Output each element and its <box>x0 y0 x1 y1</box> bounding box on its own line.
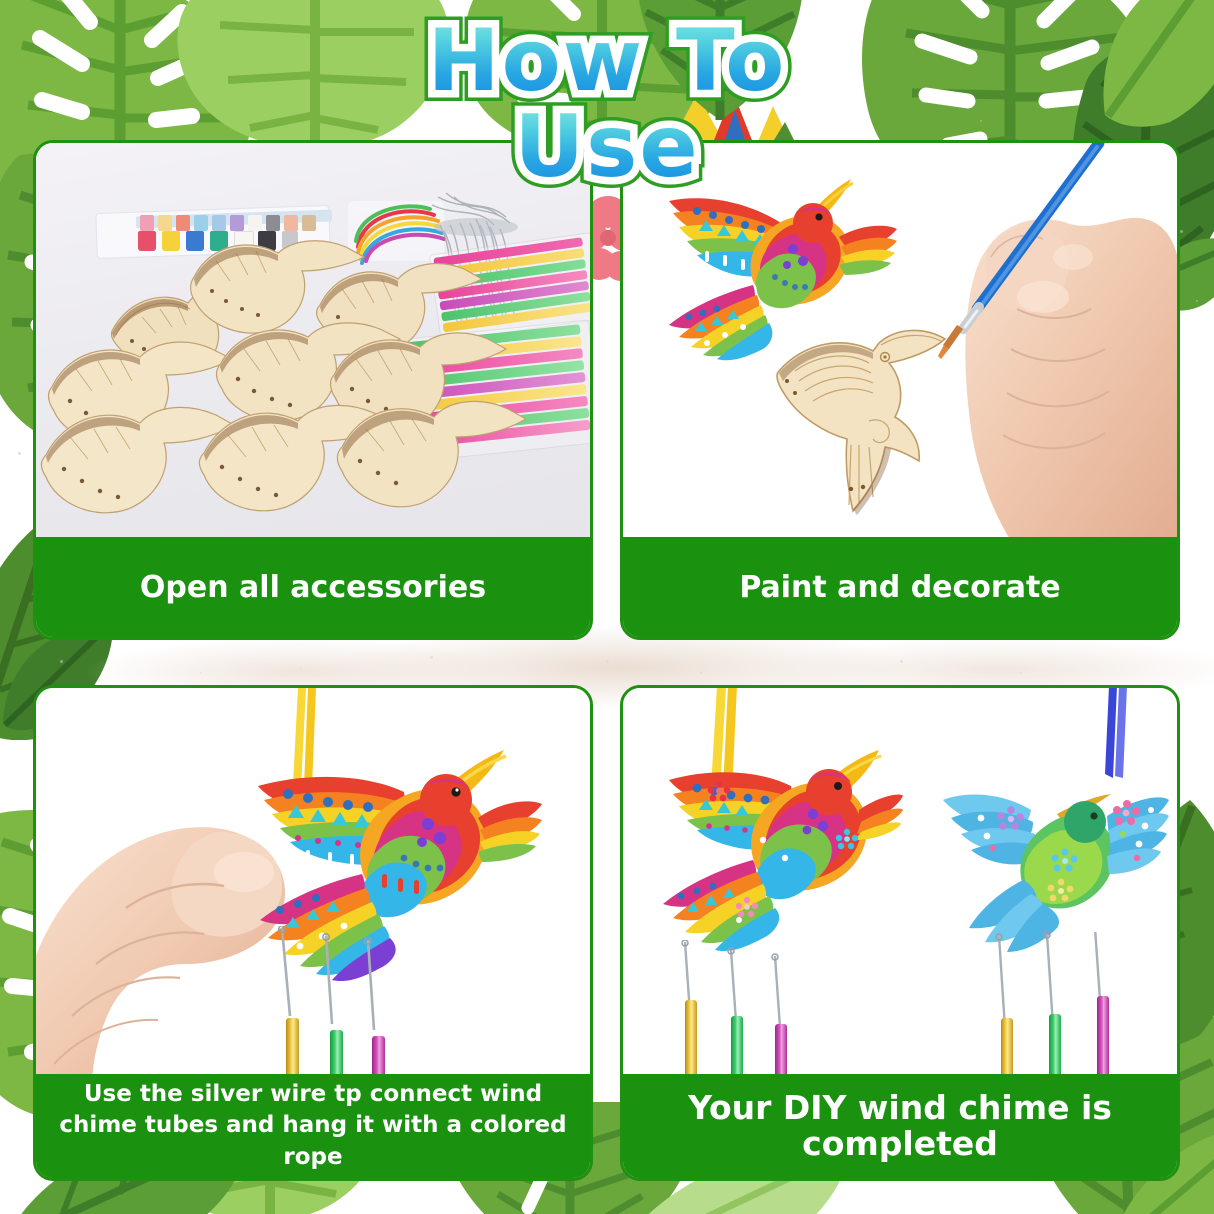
wooden-bird-cutout <box>336 387 526 513</box>
step-card-2[interactable]: Paint and decorate <box>620 140 1180 640</box>
step-card-4[interactable]: Your DIY wind chime is completed <box>620 685 1180 1181</box>
chime-tube-green <box>1049 1014 1061 1080</box>
step-card-3[interactable]: Use the silver wire tp connect wind chim… <box>33 685 593 1181</box>
chime-tube-gold <box>1001 1018 1013 1080</box>
step-1-caption: Open all accessories <box>36 537 590 637</box>
chime-tube-purple <box>1097 996 1109 1080</box>
step-4-photo <box>623 688 1177 1080</box>
step-1-photo <box>36 143 590 541</box>
step-2-photo <box>623 143 1177 541</box>
chime-tube-purple <box>775 1024 787 1080</box>
step-4-caption: Your DIY wind chime is completed <box>623 1074 1177 1178</box>
rainbow-hummingbird-chime <box>643 750 903 960</box>
step-2-caption: Paint and decorate <box>623 537 1177 637</box>
chime-tube-green <box>330 1030 343 1080</box>
paintbrush <box>913 143 1113 387</box>
step-card-1[interactable]: Open all accessories <box>33 140 593 640</box>
blue-hummingbird-chime <box>939 764 1169 954</box>
page-title: How To Use How To Use How To Use <box>327 18 887 110</box>
chime-tube-green <box>731 1016 743 1080</box>
chime-tube-gold <box>286 1018 299 1080</box>
step-3-photo <box>36 688 590 1080</box>
chime-tube-gold <box>685 1000 697 1080</box>
step-3-caption: Use the silver wire tp connect wind chim… <box>36 1074 590 1178</box>
infographic-root: How To Use How To Use How To Use <box>0 0 1214 1214</box>
page-title-wrap: How To Use How To Use How To Use <box>0 14 1214 114</box>
